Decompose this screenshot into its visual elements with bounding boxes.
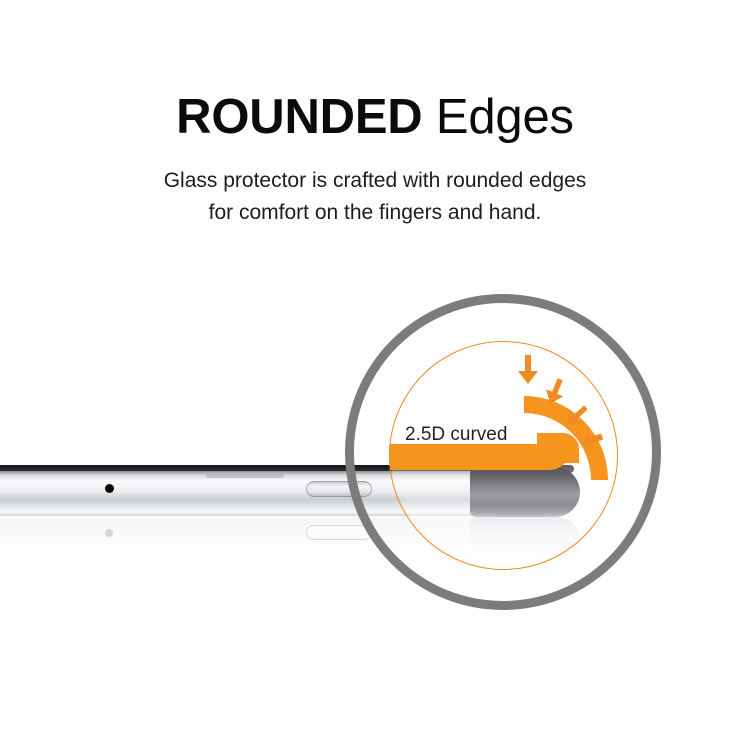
- curved-label: 2.5D curved: [405, 424, 507, 446]
- page-title-strong: ROUNDED: [176, 90, 422, 144]
- phone-side-profile: [0, 455, 750, 575]
- page-title-light: Edges: [422, 90, 573, 144]
- page-title: ROUNDED Edges: [0, 93, 750, 142]
- page-subtitle: Glass protector is crafted with rounded …: [0, 165, 750, 229]
- phone-reflection-microphone: [105, 529, 113, 537]
- pressure-arrow-down-right-1-icon: [544, 378, 566, 406]
- phone-reflection-side-button: [306, 525, 372, 540]
- phone-side-button: [306, 481, 372, 497]
- pressure-arrow-down-right-2-icon: [565, 403, 587, 430]
- pressure-arrow-down-icon: [516, 355, 540, 385]
- phone-microphone-hole-icon: [105, 484, 114, 493]
- phone-rounded-corner-cap: [470, 467, 580, 517]
- page-subtitle-line-2: for comfort on the fingers and hand.: [0, 197, 750, 229]
- phone-reflection-corner-cap: [470, 517, 580, 559]
- page-subtitle-line-1: Glass protector is crafted with rounded …: [0, 165, 750, 197]
- phone-antenna-seam: [206, 474, 284, 478]
- pressure-arrow-right-icon: [578, 428, 605, 452]
- product-feature-image: ROUNDED Edges Glass protector is crafted…: [0, 0, 750, 750]
